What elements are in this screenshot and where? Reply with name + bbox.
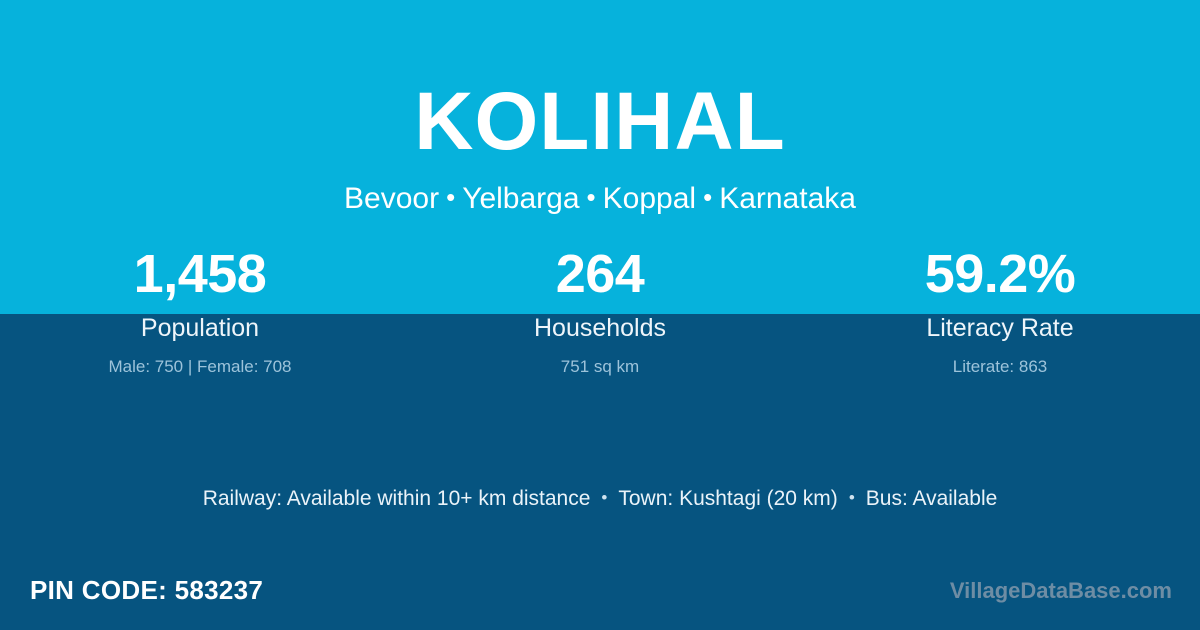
breadcrumb-item-state: Karnataka xyxy=(719,182,856,215)
breadcrumb-item-taluk: Yelbarga xyxy=(462,182,579,215)
stat-sublabel: 751 sq km xyxy=(400,357,800,377)
info-separator-icon: • xyxy=(838,488,866,507)
stat-value: 264 xyxy=(400,246,800,302)
footer: PIN CODE: 583237 VillageDataBase.com xyxy=(0,574,1200,614)
site-watermark: VillageDataBase.com xyxy=(950,577,1172,606)
pin-code: PIN CODE: 583237 xyxy=(30,574,263,608)
page-title: KOLIHAL xyxy=(0,81,1200,163)
stat-households: 264 Households 751 sq km xyxy=(400,246,800,378)
stat-label: Literacy Rate xyxy=(800,313,1200,343)
stat-label: Population xyxy=(0,313,400,343)
stat-label: Households xyxy=(400,313,800,343)
breadcrumb-separator-icon: • xyxy=(580,182,603,212)
stats-row: 1,458 Population Male: 750 | Female: 708… xyxy=(0,246,1200,378)
stat-value: 1,458 xyxy=(0,246,400,302)
info-item-bus: Bus: Available xyxy=(866,487,998,510)
breadcrumb-item-district: Koppal xyxy=(603,182,696,215)
connectivity-info-line: Railway: Available within 10+ km distanc… xyxy=(0,485,1200,512)
info-item-town: Town: Kushtagi (20 km) xyxy=(618,487,837,510)
breadcrumb-separator-icon: • xyxy=(439,182,462,212)
stat-sublabel: Male: 750 | Female: 708 xyxy=(0,357,400,377)
breadcrumb-item-village: Bevoor xyxy=(344,182,439,215)
stat-literacy-rate: 59.2% Literacy Rate Literate: 863 xyxy=(800,246,1200,378)
stat-population: 1,458 Population Male: 750 | Female: 708 xyxy=(0,246,400,378)
info-item-railway: Railway: Available within 10+ km distanc… xyxy=(203,487,591,510)
breadcrumb-separator-icon: • xyxy=(696,182,719,212)
info-separator-icon: • xyxy=(590,488,618,507)
village-info-card: KOLIHAL Bevoor•Yelbarga•Koppal•Karnataka… xyxy=(0,0,1200,630)
stat-value: 59.2% xyxy=(800,246,1200,302)
breadcrumb: Bevoor•Yelbarga•Koppal•Karnataka xyxy=(0,181,1200,217)
stat-sublabel: Literate: 863 xyxy=(800,357,1200,377)
